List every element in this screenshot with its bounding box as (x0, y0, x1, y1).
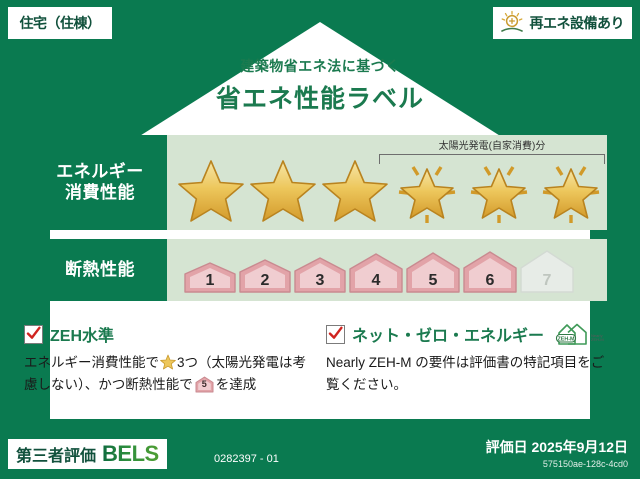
criteria-zeh-title: ZEH水準 (50, 322, 114, 346)
criteria-net-zero: ネット・ゼロ・エネルギー ZEH-M Nearly ZEH-M Nearly Z… (320, 322, 616, 396)
svg-text:ZEH-M: ZEH-M (557, 336, 575, 342)
criteria-zeh: ZEH水準 エネルギー消費性能で3つ（太陽光発電は考慮しない）、かつ断熱性能で5… (24, 322, 320, 396)
insulation-grade-badge-inactive: 7 (519, 249, 575, 294)
certificate-number: 0282397 - 01 (214, 453, 284, 467)
star-icon (247, 155, 319, 223)
energy-performance-label: エネルギー 消費性能 (33, 135, 167, 230)
criteria-zeh-text-part1: エネルギー消費性能で (24, 355, 159, 370)
zeh-m-logo-subtext: Nearly ZEH-M (591, 334, 604, 346)
star-solar-icon (391, 155, 463, 223)
label-main-title: 省エネ性能ラベル (0, 79, 640, 115)
insulation-performance-body: 1 2 3 (167, 239, 607, 301)
renewable-badge-label: 再エネ設備あり (530, 13, 625, 33)
insulation-grade-badge: 2 (238, 258, 292, 294)
insulation-grade-badge: 6 (462, 250, 518, 294)
insulation-performance-row: 断熱性能 1 (33, 239, 607, 301)
evaluation-info: 評価日 2025年9月12日 575150ae-128c-4cd0 (486, 437, 628, 469)
zeh-checkbox (24, 325, 43, 344)
zeh-m-house-icon: ZEH-M Nearly ZEH-M (555, 322, 604, 346)
criteria-net-zero-text: Nearly ZEH-M の要件は評価書の特記項目をご覧ください。 (326, 352, 606, 396)
insulation-performance-label: 断熱性能 (33, 239, 167, 301)
insulation-label-text: 断熱性能 (65, 260, 135, 281)
insulation-grade-scale: 1 2 3 (183, 249, 575, 294)
net-zero-checkbox (326, 325, 345, 344)
energy-label-line-2: 消費性能 (65, 183, 135, 204)
label-subtitle: 建築物省エネ法に基づく (0, 56, 640, 76)
metric-rows: エネルギー 消費性能 太陽光発電(自家消費)分 (33, 135, 607, 310)
insulation-grade-value: 7 (519, 272, 575, 290)
third-party-label: 第三者評価 (16, 442, 96, 466)
criteria-net-zero-header: ネット・ゼロ・エネルギー ZEH-M Nearly ZEH-M (326, 322, 606, 346)
insulation-grade-value: 3 (293, 272, 347, 290)
inline-insulation-grade-badge: 5 (195, 376, 214, 393)
star-icon (175, 155, 247, 223)
star-icon (319, 155, 391, 223)
star-solar-icon (463, 155, 535, 223)
evaluation-date-value: 2025年9月12日 (531, 439, 628, 455)
insulation-grade-badge: 3 (293, 256, 347, 294)
insulation-grade-value: 4 (348, 272, 404, 290)
insulation-grade-value: 5 (405, 272, 461, 290)
evaluation-hash: 575150ae-128c-4cd0 (486, 459, 628, 469)
insulation-grade-badge: 4 (348, 252, 404, 294)
insulation-grade-badge: 1 (183, 261, 237, 294)
criteria-net-zero-title: ネット・ゼロ・エネルギー (352, 322, 544, 346)
energy-performance-body: 太陽光発電(自家消費)分 (167, 135, 607, 230)
insulation-grade-value: 2 (238, 272, 292, 290)
renewable-equipment-badge: 再エネ設備あり (493, 7, 633, 39)
inline-grade-value: 5 (195, 377, 214, 392)
energy-label-line-1: エネルギー (56, 162, 144, 183)
bels-certification-box: 第三者評価 BELS (8, 439, 167, 469)
label-title-block: 建築物省エネ法に基づく 省エネ性能ラベル (0, 56, 640, 115)
insulation-grade-value: 6 (462, 272, 518, 290)
criteria-zeh-text-part3: を達成 (216, 377, 257, 392)
star-solar-icon (535, 155, 607, 223)
evaluation-date: 評価日 2025年9月12日 (486, 437, 628, 457)
bels-logo-text: BELS (102, 441, 159, 467)
criteria-section: ZEH水準 エネルギー消費性能で3つ（太陽光発電は考慮しない）、かつ断熱性能で5… (24, 322, 616, 396)
category-tag: 住宅（住棟） (8, 7, 112, 39)
insulation-grade-value: 1 (183, 272, 237, 290)
sun-solar-icon (499, 10, 525, 36)
category-tag-label: 住宅（住棟） (20, 13, 101, 33)
energy-star-rating (175, 155, 607, 223)
criteria-zeh-text: エネルギー消費性能で3つ（太陽光発電は考慮しない）、かつ断熱性能で5を達成 (24, 352, 310, 396)
star-icon (160, 354, 176, 370)
energy-performance-row: エネルギー 消費性能 太陽光発電(自家消費)分 (33, 135, 607, 230)
evaluation-date-label: 評価日 (486, 439, 528, 455)
criteria-zeh-header: ZEH水準 (24, 322, 310, 346)
zeh-m-nearly-line2: ZEH-M (591, 337, 604, 342)
energy-performance-label: 住宅（住棟） 再エネ設備あり 建築物省エネ法に基づく 省エネ性能ラベル (0, 0, 640, 479)
insulation-grade-badge: 5 (405, 251, 461, 294)
solar-bracket-label: 太陽光発電(自家消費)分 (379, 141, 605, 152)
